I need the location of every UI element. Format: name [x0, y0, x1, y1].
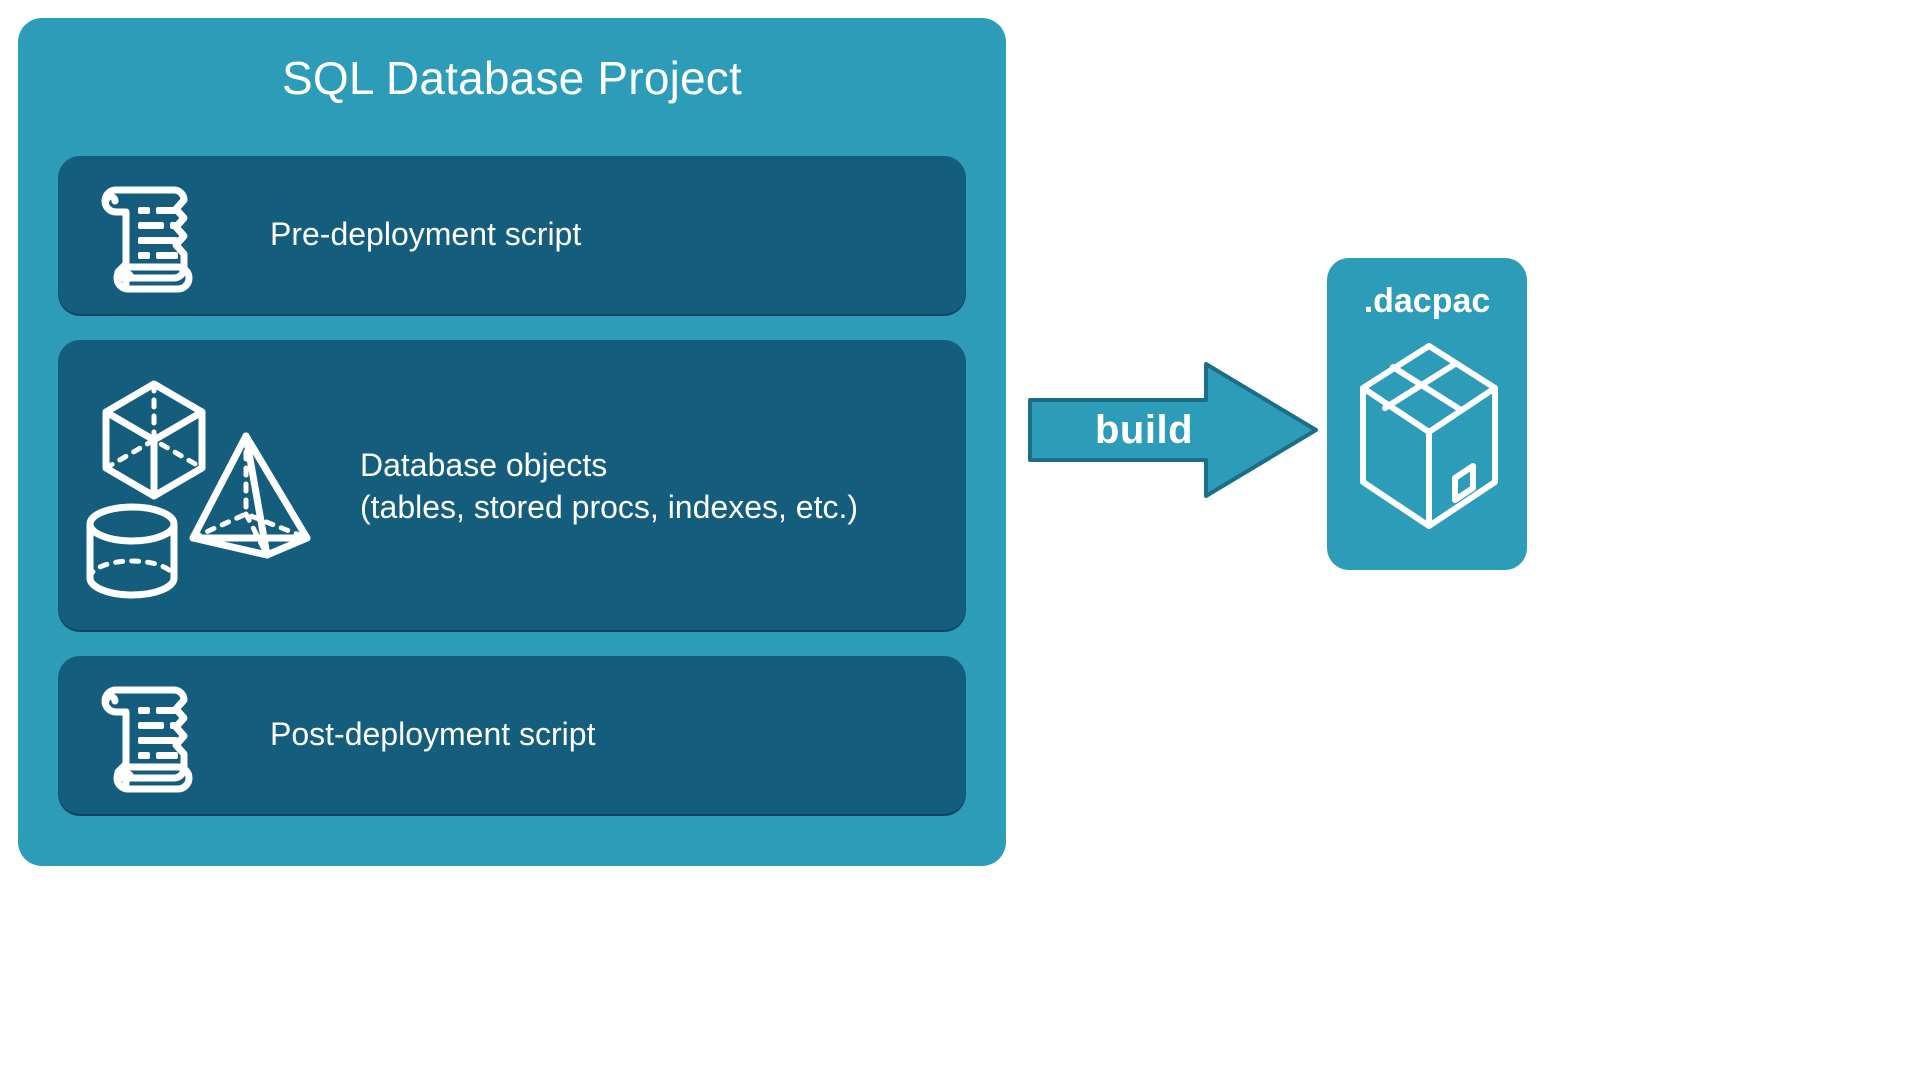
page-title: SQL Database Project — [18, 50, 1006, 106]
scroll-icon — [82, 670, 202, 798]
card-label-post-deployment: Post-deployment script — [270, 713, 595, 755]
card-post-deployment-script[interactable]: Post-deployment script — [58, 656, 966, 814]
database-objects-line-1: Database objects — [360, 447, 607, 483]
package-box-icon — [1355, 336, 1503, 544]
scroll-icon — [82, 170, 202, 298]
right-arrow-icon — [1028, 360, 1318, 500]
dacpac-output-panel: .dacpac — [1327, 258, 1527, 570]
card-pre-deployment-script[interactable]: Pre-deployment script — [58, 156, 966, 314]
dacpac-title: .dacpac — [1327, 282, 1527, 321]
pyramid-icon — [193, 436, 307, 555]
cylinder-icon — [90, 507, 174, 595]
diagram-canvas: SQL Database Project — [0, 0, 1920, 1080]
sql-database-project-panel: SQL Database Project — [18, 18, 1006, 866]
database-objects-line-2: (tables, stored procs, indexes, etc.) — [360, 489, 858, 525]
card-label-database-objects: Database objects(tables, stored procs, i… — [360, 444, 858, 528]
cube-icon — [106, 384, 202, 496]
card-label-pre-deployment: Pre-deployment script — [270, 213, 581, 255]
card-database-objects[interactable]: Database objects(tables, stored procs, i… — [58, 340, 966, 630]
database-object-shapes — [76, 362, 326, 612]
